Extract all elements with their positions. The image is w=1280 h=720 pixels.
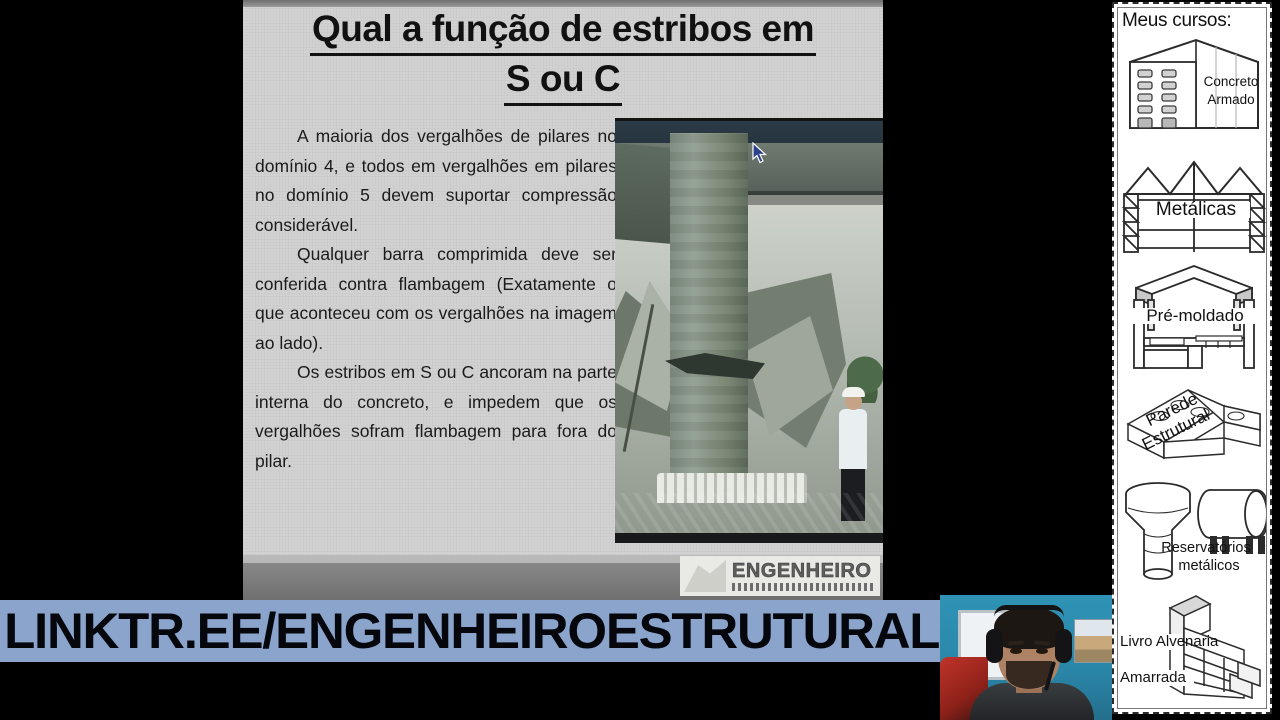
slide-title: Qual a função de estribos em S ou C (253, 6, 873, 106)
slide-title-line-1: Qual a função de estribos em (310, 6, 816, 56)
sidebar-title: Meus cursos: (1122, 10, 1267, 32)
courses-sidebar[interactable]: Meus cursos: Conc (1112, 2, 1272, 714)
logo-mark-icon (684, 560, 726, 592)
sidebar-item-label-2: Amarrada (1120, 670, 1194, 686)
sidebar-item-label: Metálicas (1142, 202, 1250, 218)
slide-body-text: A maioria dos vergalhões de pilares no d… (255, 122, 617, 476)
paragraph-1: A maioria dos vergalhões de pilares no d… (255, 122, 617, 240)
presentation-slide[interactable]: Qual a função de estribos em S ou C A ma… (243, 0, 883, 600)
wall-poster (1074, 619, 1112, 663)
failed-column-photo (615, 118, 883, 543)
headphone-band-icon (994, 605, 1064, 617)
slide-title-line-2: S ou C (504, 56, 622, 106)
sidebar-item-label: Livro Alvenaria (1120, 634, 1182, 650)
headphone-cup-left-icon (986, 629, 1003, 663)
screen-root: Qual a função de estribos em S ou C A ma… (0, 0, 1280, 720)
headphone-cup-right-icon (1055, 629, 1072, 663)
banner-text: LINKTR.EE/ENGENHEIROESTRUTURAL (0, 606, 939, 656)
logo-wordmark: ENGENHEIRO (732, 560, 871, 583)
sidebar-item-reservatorios[interactable]: Reservatórios metálicos (1118, 478, 1266, 590)
sidebar-item-label: Pré-moldado (1130, 308, 1260, 324)
engenheiro-logo: ENGENHEIRO (680, 556, 880, 596)
presenter-eye-left (1010, 648, 1022, 654)
presenter-webcam[interactable] (940, 595, 1112, 720)
sidebar-item-label-2: Armado (1194, 92, 1267, 108)
sidebar-item-concreto-armado[interactable]: Concreto Armado (1118, 32, 1266, 144)
sidebar-item-metalicas[interactable]: Metálicas (1118, 148, 1266, 258)
sidebar-item-pre-moldado[interactable]: Pré-moldado (1118, 260, 1266, 378)
logo-underline (732, 583, 874, 591)
sidebar-item-livro-alvenaria[interactable]: Livro Alvenaria Amarrada (1118, 586, 1266, 709)
paragraph-2: Qualquer barra comprimida deve ser confe… (255, 240, 617, 358)
sidebar-item-label: Concreto (1194, 74, 1267, 90)
sidebar-item-label: Reservatórios (1144, 540, 1267, 556)
paragraph-3: Os estribos em S ou C ancoram na parte i… (255, 358, 617, 476)
sidebar-item-label-2: metálicos (1154, 558, 1264, 574)
linktree-banner[interactable]: LINKTR.EE/ENGENHEIROESTRUTURAL (0, 600, 940, 662)
presenter-eye-right (1036, 648, 1048, 654)
sidebar-item-parede-estrutural[interactable]: Parede Estrutural (1118, 380, 1266, 476)
